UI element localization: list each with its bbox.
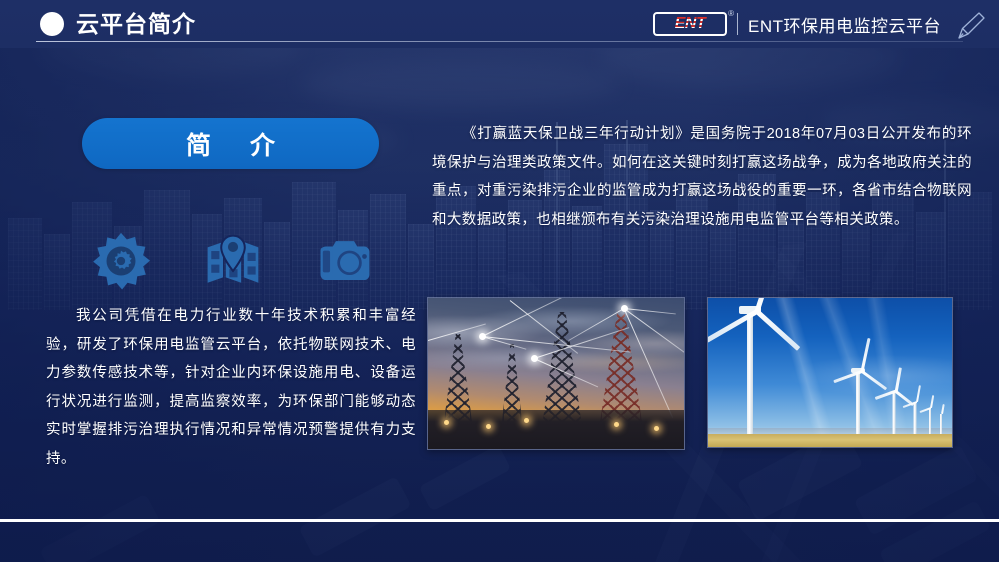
map-pin-icon — [200, 228, 266, 294]
wind-turbine — [856, 372, 859, 434]
brand-name: ENT环保用电监控云平台 — [748, 12, 941, 37]
ground-lamp — [654, 426, 659, 431]
gear-sunburst-icon — [88, 228, 154, 294]
camera-icon — [312, 228, 378, 294]
turbine-mast — [747, 312, 753, 434]
ground-lamp — [444, 420, 449, 425]
page-title: 云平台简介 — [76, 5, 196, 39]
turbine-mast — [856, 372, 860, 434]
turbine-mast — [892, 392, 895, 434]
page-header: 云平台简介 ENT ® ENT环保用电监控云平台 — [0, 0, 999, 48]
network-node — [621, 305, 628, 312]
pen-icon — [951, 6, 991, 46]
header-divider — [36, 41, 963, 42]
brand-separator — [737, 13, 738, 35]
registered-mark: ® — [728, 9, 734, 18]
intro-paragraph-left: 我公司凭借在电力行业数十年技术积累和丰富经验，研发了环保用电监管云平台，依托物联… — [46, 302, 416, 473]
turbine-mast — [940, 414, 942, 434]
ground-lamp — [486, 424, 491, 429]
ent-logo-text: ENT — [673, 15, 708, 33]
ent-logo-icon: ENT ® — [653, 12, 727, 36]
wind-turbine — [914, 402, 916, 434]
turbine-mast — [914, 402, 917, 434]
section-pill-button[interactable]: 简 介 — [82, 118, 379, 169]
section-pill-label: 简 介 — [170, 126, 291, 162]
footer-divider — [0, 519, 999, 522]
brand-lockup: ENT ® ENT环保用电监控云平台 — [653, 8, 941, 40]
photo2-field — [708, 434, 952, 447]
wind-turbine — [892, 392, 895, 434]
turbine-mast — [929, 408, 931, 434]
wind-turbines-photo — [707, 297, 953, 448]
slide-root: 云平台简介 ENT ® ENT环保用电监控云平台 简 介 — [0, 0, 999, 562]
wind-turbine — [929, 408, 931, 434]
network-node — [531, 355, 538, 362]
feature-icon-row — [88, 228, 378, 294]
power-transmission-towers-photo — [427, 297, 685, 450]
ground-lamp — [614, 422, 619, 427]
ground-lamp — [524, 418, 529, 423]
circle-bullet-icon — [40, 12, 64, 36]
network-node — [479, 333, 486, 340]
wind-turbine — [940, 414, 942, 434]
photo1-ground — [428, 410, 684, 449]
intro-paragraph-right: 《打赢蓝天保卫战三年行动计划》是国务院于2018年07月03日公开发布的环境保护… — [432, 120, 972, 234]
wind-turbine — [748, 312, 752, 434]
